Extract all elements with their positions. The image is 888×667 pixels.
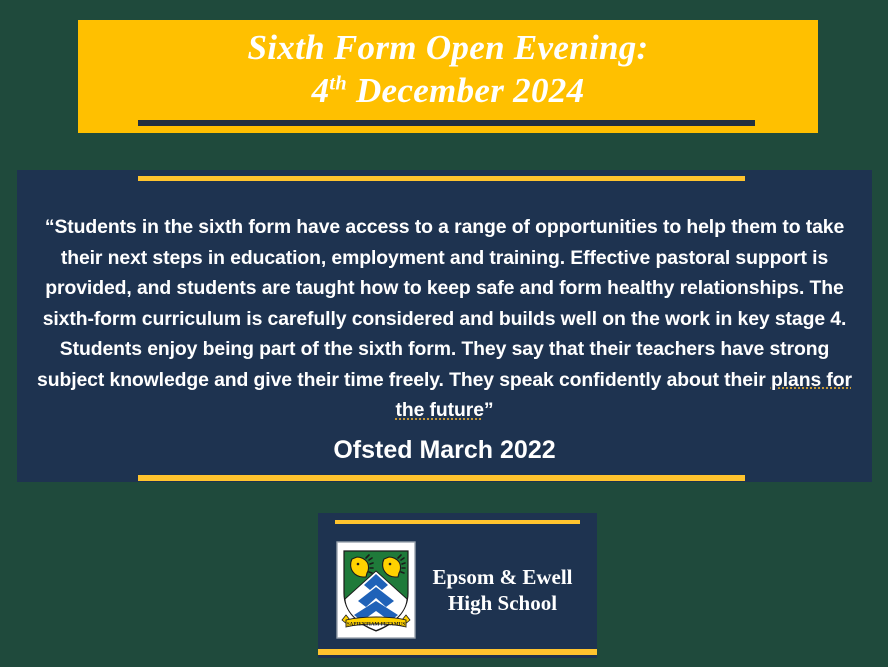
quote-bottom-rule [138,475,745,481]
event-date-ordinal: th [329,72,347,94]
event-date-rest: December 2024 [347,71,584,110]
event-date-line: 4th December 2024 [78,69,818,112]
logo-content: SAPIENTIAM PETAMUS Epsom & Ewell High Sc… [318,535,597,645]
school-crest-icon: SAPIENTIAM PETAMUS [336,541,416,639]
quote-panel: “Students in the sixth form have access … [17,170,872,482]
logo-bottom-rule [318,649,597,655]
crest-motto-text: SAPIENTIAM PETAMUS [347,621,406,627]
logo-panel: SAPIENTIAM PETAMUS Epsom & Ewell High Sc… [318,513,597,658]
quote-segment-2: ” [484,399,494,421]
event-date-day: 4 [312,71,330,110]
school-name-line-1: Epsom & Ewell [416,564,589,590]
title-banner: Sixth Form Open Evening: 4th December 20… [78,20,818,133]
ofsted-quote-text: “Students in the sixth form have access … [31,212,858,426]
logo-top-rule [335,520,580,524]
quote-top-rule [138,176,745,181]
school-name-line-2: High School [416,590,589,616]
quote-attribution: Ofsted March 2022 [31,434,858,466]
quote-segment-1: “Students in the sixth form have access … [37,216,846,391]
quote-body: “Students in the sixth form have access … [31,212,858,466]
event-title-line: Sixth Form Open Evening: [78,26,818,69]
title-divider-rule [138,120,755,126]
school-name: Epsom & Ewell High School [416,564,597,616]
